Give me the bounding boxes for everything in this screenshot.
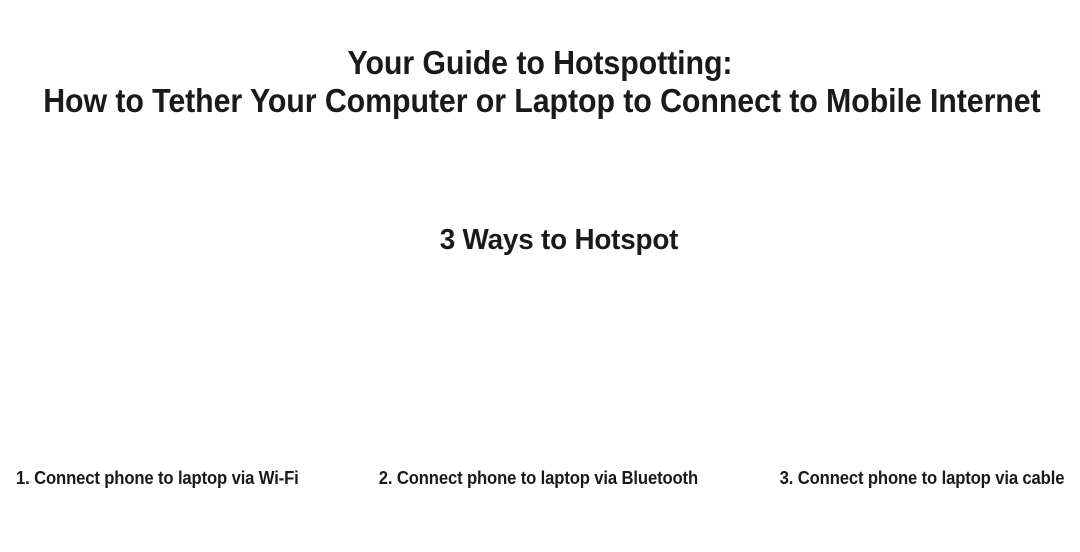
page-title-line-2: How to Tether Your Computer or Laptop to…: [43, 82, 1037, 120]
infographic-page: Your Guide to Hotspotting: How to Tether…: [0, 0, 1080, 552]
phone-to-laptop-cable-illustration: [748, 286, 1064, 466]
page-title-line-1: Your Guide to Hotspotting:: [43, 44, 1037, 82]
methods-list: 1. Connect phone to laptop via Wi-Fi 2. …: [0, 286, 1080, 518]
phone-to-laptop-bluetooth-illustration: [361, 286, 716, 466]
method-caption-cable: 3. Connect phone to laptop via cable: [779, 466, 1064, 518]
phone-to-laptop-wifi-illustration: [16, 286, 330, 466]
section-heading: 3 Ways to Hotspot: [41, 222, 1078, 258]
method-item-cable: 3. Connect phone to laptop via cable: [748, 286, 1064, 518]
method-caption-wifi: 1. Connect phone to laptop via Wi-Fi: [16, 466, 299, 518]
page-title: Your Guide to Hotspotting: How to Tether…: [0, 44, 1080, 120]
method-item-bluetooth: 2. Connect phone to laptop via Bluetooth: [361, 286, 716, 518]
method-caption-bluetooth: 2. Connect phone to laptop via Bluetooth: [379, 466, 698, 518]
method-item-wifi: 1. Connect phone to laptop via Wi-Fi: [16, 286, 330, 518]
